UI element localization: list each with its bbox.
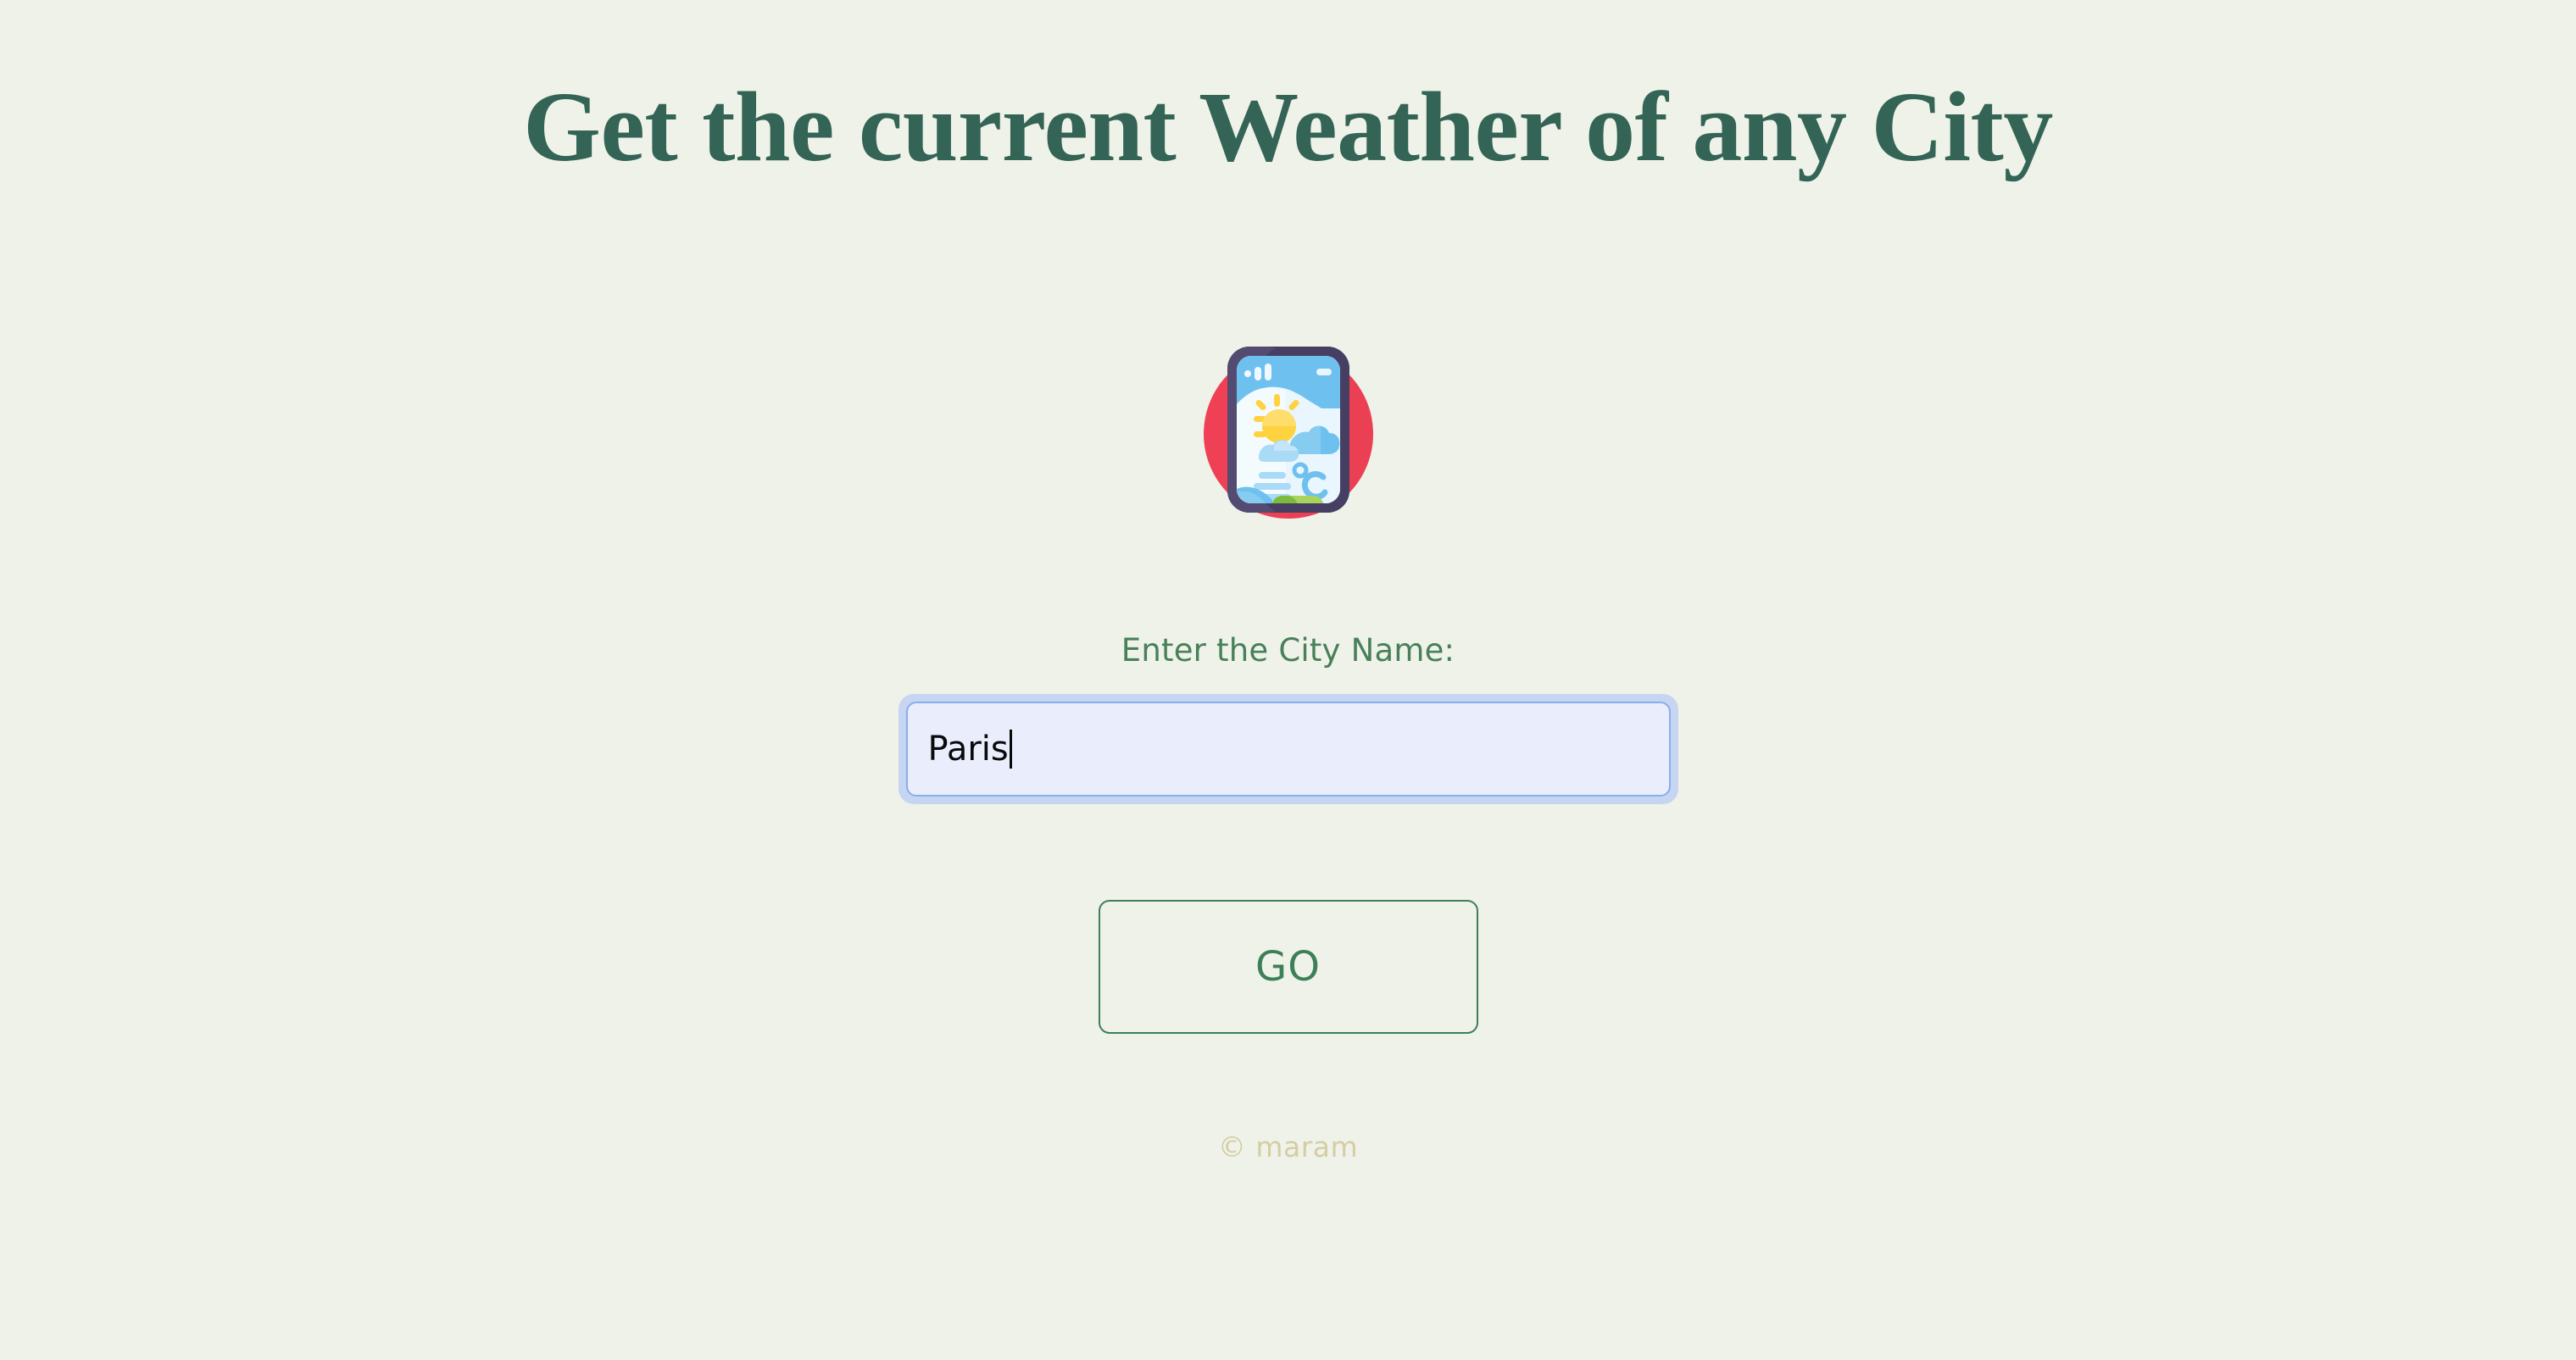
city-input-focus-ring: Paris <box>899 694 1678 804</box>
city-input[interactable]: Paris <box>906 702 1671 797</box>
text-cursor <box>1010 730 1012 769</box>
weather-app-page: Get the current Weather of any City <box>0 0 2576 1360</box>
go-button[interactable]: GO <box>1099 900 1478 1034</box>
weather-app-illustration-icon <box>1201 343 1376 523</box>
page-title: Get the current Weather of any City <box>523 75 2053 180</box>
footer-copyright: © maram <box>1218 1133 1358 1161</box>
city-input-label: Enter the City Name: <box>1121 635 1455 666</box>
city-search-form: Enter the City Name: Paris GO <box>0 635 2576 1034</box>
city-input-value: Paris <box>928 732 1009 766</box>
